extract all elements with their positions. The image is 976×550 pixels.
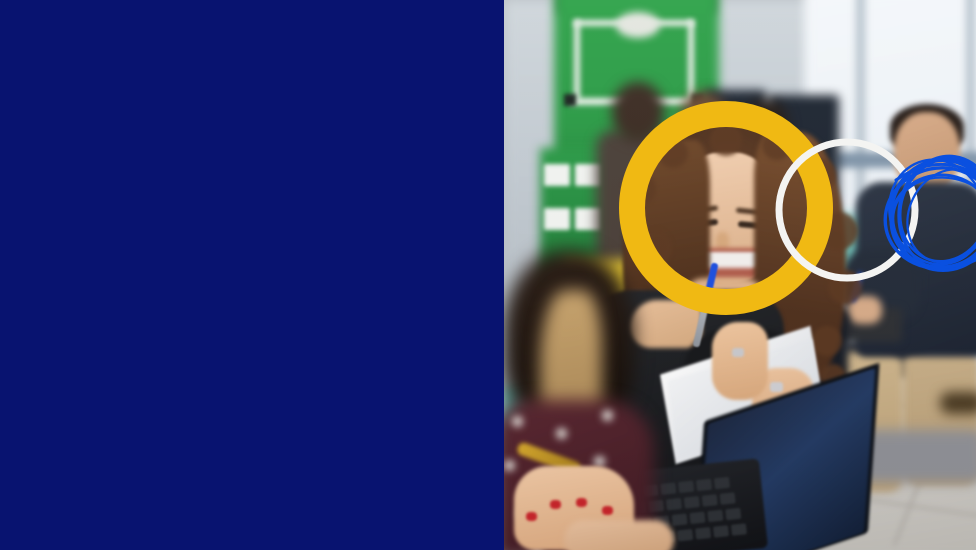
photo-tint-overlay — [504, 0, 976, 550]
hero-photo — [504, 0, 976, 550]
contacto-promo-banner: 4 years Contacto Sonae Young Talent Prog… — [0, 0, 976, 550]
navy-content-panel — [0, 0, 504, 550]
